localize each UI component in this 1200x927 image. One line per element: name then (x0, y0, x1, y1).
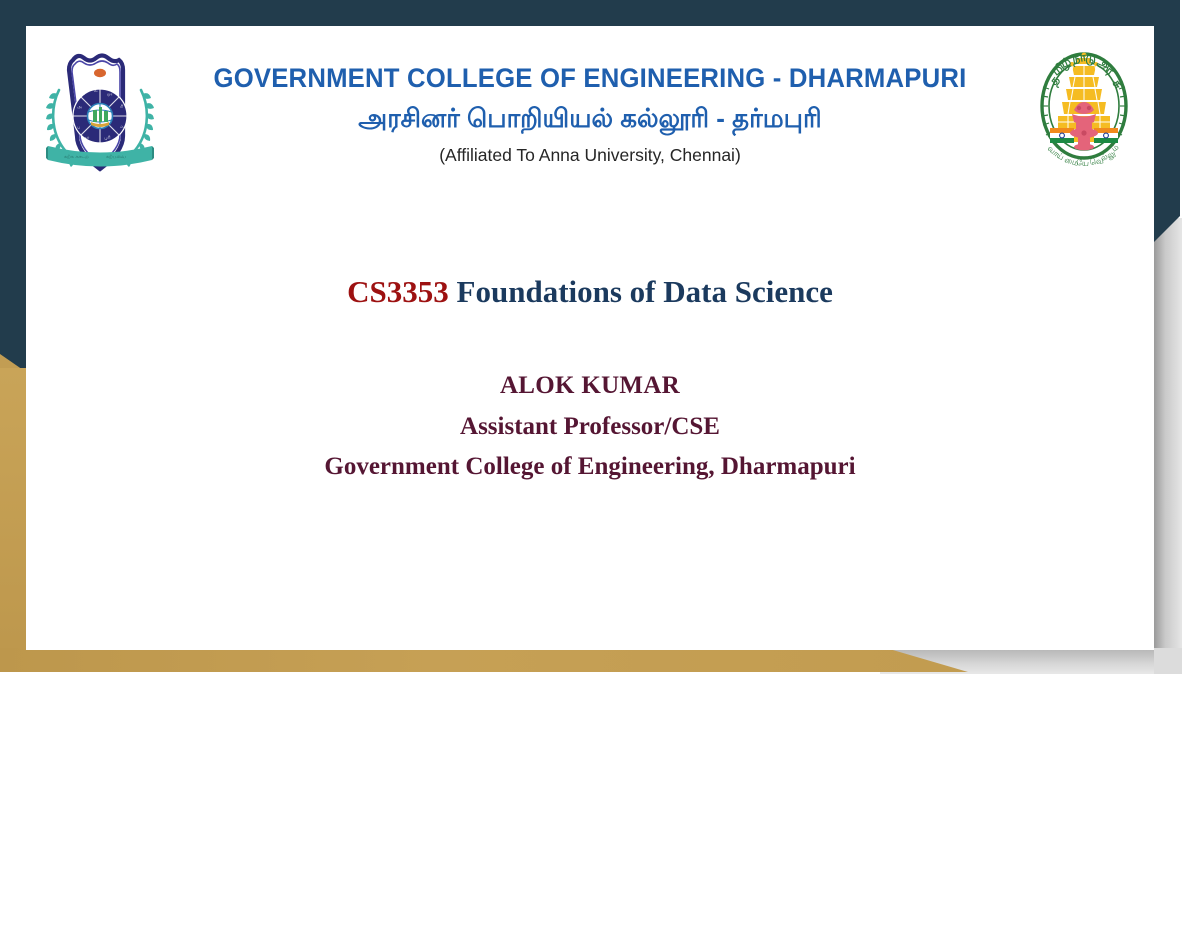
course-title-separator (449, 274, 457, 309)
card-shadow-right (1154, 218, 1182, 654)
college-name-tamil: அரசினர் பொறியியல் கல்லூரி - தர்மபுரி (176, 102, 1004, 135)
svg-text:கற்பவை: கற்பவை (106, 154, 126, 160)
svg-text:ப: ப (77, 125, 80, 130)
frame-navy-left (0, 0, 26, 378)
slide-header: கல்லூ அரி பம் தர்புரி கற்க கசடற கற்பவை (26, 26, 1154, 196)
svg-text:தர்: தர் (84, 136, 90, 141)
svg-text:கற்க கசடற: கற்க கசடற (64, 154, 89, 160)
frame-gold-bottom (0, 648, 970, 672)
svg-text:லூ: லூ (107, 92, 112, 97)
svg-text:யே: யே (1076, 157, 1090, 168)
course-title: CS3353 Foundations of Data Science (26, 273, 1154, 310)
gce-dharmapuri-crest-icon: கல்லூ அரி பம் தர்புரி கற்க கசடற கற்பவை (44, 42, 156, 184)
institution-header: GOVERNMENT COLLEGE OF ENGINEERING - DHAR… (176, 64, 1004, 166)
svg-text:க: க (82, 92, 85, 97)
svg-text:ரி: ரி (120, 105, 123, 110)
frame-navy-top (0, 0, 1180, 26)
svg-text:அ: அ (77, 105, 82, 110)
college-name-english: GOVERNMENT COLLEGE OF ENGINEERING - DHAR… (188, 64, 991, 94)
course-code: CS3353 (347, 274, 449, 309)
author-block: ALOK KUMAR Assistant Professor/CSE Gover… (26, 371, 1154, 483)
svg-text:டு: டு (1085, 51, 1097, 66)
tamil-nadu-government-emblem-icon: த மி ழ் நா டு அ ர சு வா ய் மை யே (1028, 44, 1140, 179)
svg-text:புரி: புரி (104, 136, 110, 141)
author-institute: Government College of Engineering, Dharm… (26, 452, 1154, 483)
slide-canvas: கல்லூ அரி பம் தர்புரி கற்க கசடற கற்பவை (0, 0, 1200, 927)
card-shadow-corner (1154, 648, 1182, 674)
frame-gold-left (0, 368, 26, 668)
svg-text:ம்: ம் (120, 125, 124, 130)
author-name: ALOK KUMAR (26, 371, 1154, 402)
svg-text:ல்: ல் (94, 89, 98, 94)
affiliation-line: (Affiliated To Anna University, Chennai) (176, 145, 1004, 166)
course-name: Foundations of Data Science (457, 274, 833, 309)
slide-card: கல்லூ அரி பம் தர்புரி கற்க கசடற கற்பவை (26, 26, 1154, 650)
author-role: Assistant Professor/CSE (26, 412, 1154, 443)
frame-navy-right (1154, 0, 1180, 216)
